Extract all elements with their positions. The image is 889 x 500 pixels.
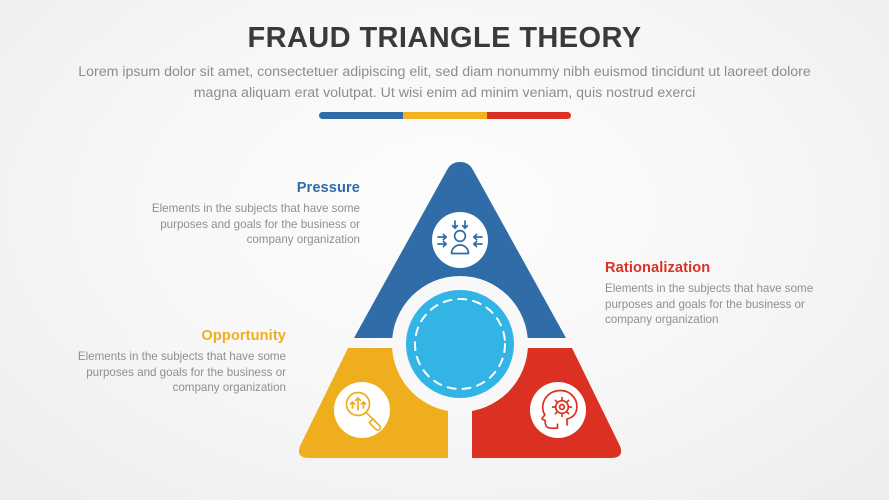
label-block-opportunity: Opportunity Elements in the subjects tha… xyxy=(48,328,286,396)
icon-badge-rationalization[interactable] xyxy=(530,382,586,438)
accent-bar-segment-red xyxy=(487,112,571,119)
label-block-rationalization: Rationalization Elements in the subjects… xyxy=(605,260,850,328)
page-subtitle: Lorem ipsum dolor sit amet, consectetuer… xyxy=(60,62,830,104)
accent-bar-segment-blue xyxy=(319,112,403,119)
label-title-pressure: Pressure xyxy=(118,180,360,196)
label-description-pressure: Elements in the subjects that have some … xyxy=(118,201,360,248)
label-description-rationalization: Elements in the subjects that have some … xyxy=(605,281,850,328)
label-block-pressure: Pressure Elements in the subjects that h… xyxy=(118,180,360,248)
center-fraud-circle[interactable] xyxy=(406,290,514,398)
page-title: FRAUD TRIANGLE THEORY xyxy=(0,22,889,55)
icon-badge-opportunity[interactable] xyxy=(334,382,390,438)
label-title-opportunity: Opportunity xyxy=(48,328,286,344)
accent-bar-segment-yellow xyxy=(403,112,487,119)
accent-bar xyxy=(319,112,571,119)
slide-canvas: FRAUD TRIANGLE THEORY Lorem ipsum dolor … xyxy=(0,0,889,500)
label-description-opportunity: Elements in the subjects that have some … xyxy=(48,349,286,396)
label-title-rationalization: Rationalization xyxy=(605,260,850,276)
icon-badge-pressure[interactable] xyxy=(432,212,488,268)
